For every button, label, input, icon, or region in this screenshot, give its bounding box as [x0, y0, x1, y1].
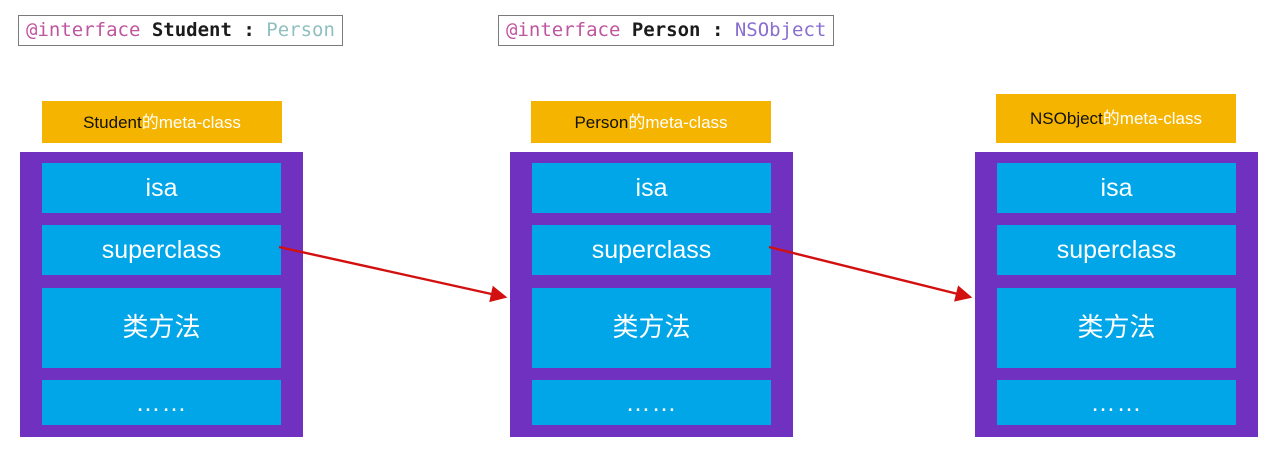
meta-class-struct-person: isa superclass 类方法 …… — [510, 152, 793, 437]
arrow-student-superclass-to-person — [279, 247, 505, 297]
code-snippet-student: @interface Student : Person — [18, 15, 343, 46]
slot-label: isa — [636, 174, 668, 202]
slot-isa: isa — [532, 163, 771, 213]
slot-ellipsis: …… — [997, 380, 1236, 425]
slot-label: …… — [626, 389, 678, 417]
slot-superclass: superclass — [42, 225, 281, 275]
code-superclass-name: Person — [266, 19, 335, 41]
code-keyword: @interface — [506, 19, 620, 41]
slot-class-methods: 类方法 — [997, 288, 1236, 368]
header-class-name: Student — [83, 113, 142, 132]
slot-label: superclass — [592, 236, 712, 264]
slot-label: superclass — [1057, 236, 1177, 264]
code-class-name: Student — [152, 19, 232, 41]
slot-label: …… — [1091, 389, 1143, 417]
slot-isa: isa — [42, 163, 281, 213]
slot-label: superclass — [102, 236, 222, 264]
slot-label: isa — [1101, 174, 1133, 202]
header-class-name: NSObject — [1030, 109, 1103, 128]
header-suffix: 的meta-class — [1103, 109, 1202, 128]
meta-class-struct-nsobject: isa superclass 类方法 …… — [975, 152, 1258, 437]
arrow-person-superclass-to-nsobject — [769, 247, 970, 297]
code-class-name: Person — [632, 19, 701, 41]
slot-label: …… — [136, 389, 188, 417]
code-keyword: @interface — [26, 19, 140, 41]
code-colon: : — [712, 19, 723, 41]
meta-class-header-student: Student的meta-class — [42, 101, 282, 143]
header-class-name: Person — [574, 113, 628, 132]
code-colon: : — [243, 19, 254, 41]
meta-class-header-person: Person的meta-class — [531, 101, 771, 143]
code-superclass-name: NSObject — [735, 19, 827, 41]
slot-superclass: superclass — [997, 225, 1236, 275]
code-snippet-person: @interface Person : NSObject — [498, 15, 834, 46]
slot-isa: isa — [997, 163, 1236, 213]
header-suffix: 的meta-class — [142, 113, 241, 132]
meta-class-struct-student: isa superclass 类方法 …… — [20, 152, 303, 437]
slot-superclass: superclass — [532, 225, 771, 275]
slot-ellipsis: …… — [532, 380, 771, 425]
slot-label: 类方法 — [612, 314, 690, 342]
slot-ellipsis: …… — [42, 380, 281, 425]
header-suffix: 的meta-class — [628, 113, 727, 132]
slot-label: isa — [146, 174, 178, 202]
slot-label: 类方法 — [1077, 314, 1155, 342]
slot-class-methods: 类方法 — [42, 288, 281, 368]
slot-label: 类方法 — [122, 314, 200, 342]
slot-class-methods: 类方法 — [532, 288, 771, 368]
meta-class-header-nsobject: NSObject的meta-class — [996, 94, 1236, 143]
